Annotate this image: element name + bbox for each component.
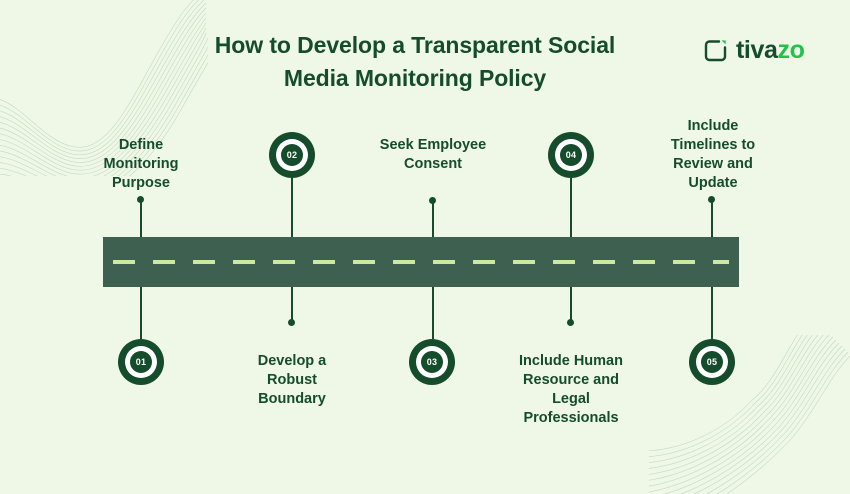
step-badge-01-ring: 01 <box>125 346 157 378</box>
step-label-05-line-1: Include <box>688 118 739 134</box>
connector-dot-05 <box>708 196 715 203</box>
connector-dot-01 <box>137 196 144 203</box>
step-badge-02-ring: 02 <box>276 139 308 171</box>
infographic-canvas: How to Develop a Transparent Social Medi… <box>0 0 850 494</box>
road-dash-markings <box>113 260 729 264</box>
step-label-04-line-1: Include Human <box>519 353 623 369</box>
step-badge-01-number: 01 <box>136 358 146 367</box>
header: How to Develop a Transparent Social Medi… <box>0 0 850 105</box>
connector-line-03-label <box>432 200 434 237</box>
step-badge-05[interactable]: 05 <box>689 339 735 385</box>
page-title-line-1: How to Develop a Transparent Social <box>215 32 615 58</box>
connector-dot-02 <box>288 319 295 326</box>
step-badge-01[interactable]: 01 <box>118 339 164 385</box>
step-badge-02-number: 02 <box>287 151 297 160</box>
step-badge-02-core: 02 <box>281 144 303 166</box>
connector-line-02-badge <box>291 178 293 237</box>
step-label-02: Develop a Robust Boundary <box>227 352 357 409</box>
step-badge-05-ring: 05 <box>696 346 728 378</box>
step-badge-04-core: 04 <box>560 144 582 166</box>
step-label-03: Seek Employee Consent <box>353 136 513 174</box>
connector-line-04-label <box>570 287 572 323</box>
step-label-01: Define Monitoring Purpose <box>76 136 206 193</box>
step-label-04-line-2: Resource and <box>523 372 619 388</box>
step-label-04: Include Human Resource and Legal Profess… <box>491 352 651 428</box>
step-badge-04-number: 04 <box>566 151 576 160</box>
step-badge-03-ring: 03 <box>416 346 448 378</box>
step-badge-04-ring: 04 <box>555 139 587 171</box>
step-label-02-line-1: Develop a <box>258 353 327 369</box>
logo-wordmark: tivazo <box>736 38 804 63</box>
step-badge-03-number: 03 <box>427 358 437 367</box>
wave-decoration-bottom-right <box>649 335 850 494</box>
step-label-04-line-3: Legal <box>552 391 590 407</box>
connector-line-05-label <box>711 199 713 237</box>
connector-line-03-badge <box>432 287 434 339</box>
step-label-02-line-2: Robust <box>267 372 317 388</box>
page-title-line-2: Media Monitoring Policy <box>284 65 546 91</box>
step-label-05-line-4: Update <box>688 175 737 191</box>
logo-wordmark-dark: tiva <box>736 36 777 64</box>
tivazo-mark-icon <box>703 38 728 63</box>
connector-line-05-badge <box>711 287 713 339</box>
step-label-03-line-1: Seek Employee <box>380 137 486 153</box>
step-badge-04[interactable]: 04 <box>548 132 594 178</box>
logo-wordmark-accent: zo <box>777 36 804 64</box>
step-label-05: Include Timelines to Review and Update <box>648 117 778 193</box>
step-badge-03-core: 03 <box>421 351 443 373</box>
timeline-road-bar <box>103 237 739 287</box>
connector-dot-03 <box>429 197 436 204</box>
page-title: How to Develop a Transparent Social Medi… <box>150 29 680 95</box>
connector-line-04-badge <box>570 178 572 237</box>
step-badge-02[interactable]: 02 <box>269 132 315 178</box>
connector-dot-04 <box>567 319 574 326</box>
connector-line-01-badge <box>140 287 142 339</box>
step-badge-03[interactable]: 03 <box>409 339 455 385</box>
step-badge-05-number: 05 <box>707 358 717 367</box>
connector-line-01-label <box>140 199 142 237</box>
brand-logo[interactable]: tivazo <box>703 38 804 63</box>
step-badge-05-core: 05 <box>701 351 723 373</box>
connector-line-02-label <box>291 287 293 323</box>
step-label-03-line-2: Consent <box>404 156 462 172</box>
step-label-01-line-2: Monitoring <box>104 156 179 172</box>
step-label-04-line-4: Professionals <box>523 410 618 426</box>
step-label-01-line-3: Purpose <box>112 175 170 191</box>
step-label-05-line-3: Review and <box>673 156 753 172</box>
step-label-02-line-3: Boundary <box>258 391 326 407</box>
step-label-05-line-2: Timelines to <box>671 137 755 153</box>
step-badge-01-core: 01 <box>130 351 152 373</box>
step-label-01-line-1: Define <box>119 137 163 153</box>
